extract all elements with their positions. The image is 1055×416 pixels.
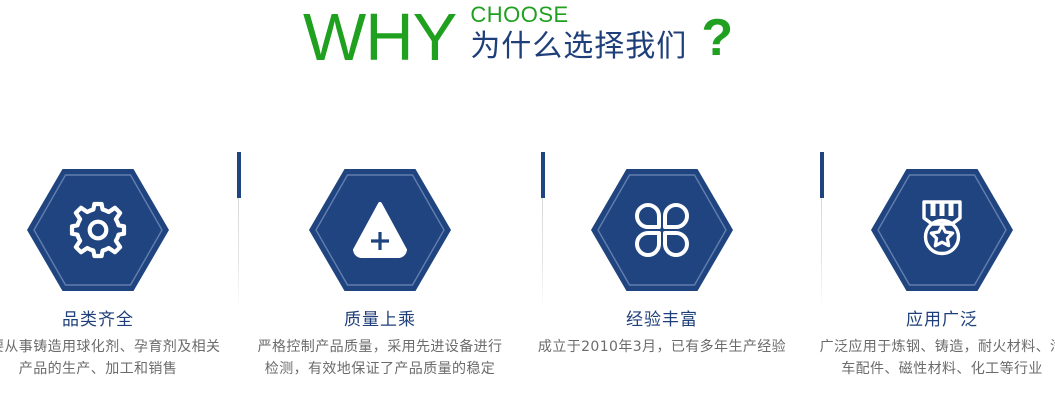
hexagon-badge	[591, 168, 733, 292]
card-title: 品类齐全	[0, 308, 239, 332]
card-caption: 应用广泛 广泛应用于炼钢、铸造，耐火材料、汽车配件、磁性材料、化工等行业	[801, 308, 1055, 380]
heading-question-mark: ?	[701, 10, 733, 66]
heading-choose: CHOOSE	[470, 2, 687, 28]
card-description: 严格控制产品质量，采用先进设备进行检测，有效地保证了产品质量的稳定	[239, 336, 521, 380]
card-title: 应用广泛	[801, 308, 1055, 332]
card-title: 质量上乘	[239, 308, 521, 332]
page-heading: WHY CHOOSE 为什么选择我们 ?	[0, 0, 1055, 92]
feature-card[interactable]: 应用广泛 广泛应用于炼钢、铸造，耐火材料、汽车配件、磁性材料、化工等行业	[801, 150, 1055, 416]
feature-card[interactable]: 质量上乘 严格控制产品质量，采用先进设备进行检测，有效地保证了产品质量的稳定	[239, 150, 521, 416]
hexagon-badge	[27, 168, 169, 292]
card-description: 广泛应用于炼钢、铸造，耐火材料、汽车配件、磁性材料、化工等行业	[801, 336, 1055, 380]
heading-subtitle-cn: 为什么选择我们	[470, 28, 687, 66]
feature-cards: 品类齐全 主要从事铸造用球化剂、孕育剂及相关产品的生产、加工和销售 质量上乘 严…	[0, 150, 1055, 416]
feature-card[interactable]: 经验丰富 成立于2010年3月，已有多年生产经验	[521, 150, 803, 416]
heading-why: WHY	[303, 2, 456, 74]
card-title: 经验丰富	[521, 308, 803, 332]
feature-card[interactable]: 品类齐全 主要从事铸造用球化剂、孕育剂及相关产品的生产、加工和销售	[0, 150, 239, 416]
card-caption: 经验丰富 成立于2010年3月，已有多年生产经验	[521, 308, 803, 358]
card-description: 成立于2010年3月，已有多年生产经验	[521, 336, 803, 358]
card-caption: 质量上乘 严格控制产品质量，采用先进设备进行检测，有效地保证了产品质量的稳定	[239, 308, 521, 380]
hexagon-badge	[309, 168, 451, 292]
hexagon-badge	[871, 168, 1013, 292]
card-caption: 品类齐全 主要从事铸造用球化剂、孕育剂及相关产品的生产、加工和销售	[0, 308, 239, 380]
card-description: 主要从事铸造用球化剂、孕育剂及相关产品的生产、加工和销售	[0, 336, 239, 380]
